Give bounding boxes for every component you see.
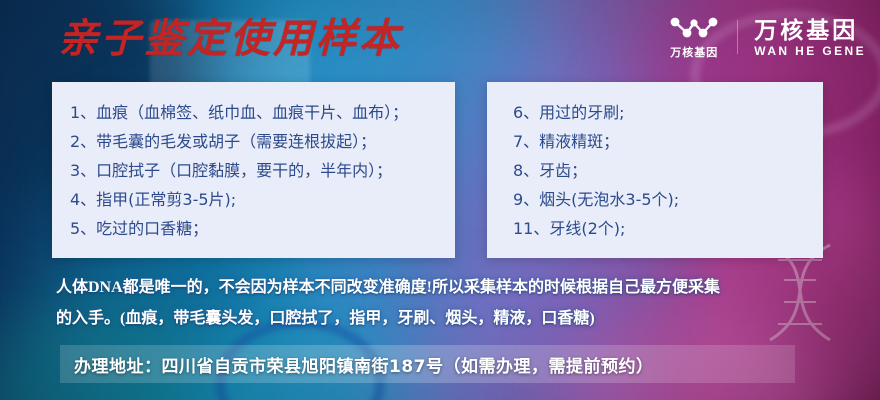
sample-panel-left: 1、血痕（血棉签、纸巾血、血痕干片、血布）； 2、带毛囊的毛发或胡子（需要连根拔… [52, 82, 455, 258]
list-item: 5、吃过的口香糖； [70, 214, 455, 243]
list-item: 1、血痕（血棉签、纸巾血、血痕干片、血布）； [70, 98, 455, 127]
brand-wordmark: 万核基因 WAN HE GENE [754, 17, 866, 58]
list-item: 3、口腔拭子（口腔黏膜，要干的，半年内）； [70, 156, 455, 185]
sample-panel-right: 6、用过的牙刷; 7、精液精斑； 8、牙齿； 9、烟头(无泡水3-5个); 11… [487, 82, 823, 258]
list-item: 11、牙线(2个); [513, 214, 823, 243]
note-line-1: 人体DNA都是唯一的，不会因为样本不同改变准确度!所以采集样本的时候根据自己最方… [56, 272, 836, 303]
address-text: 办理地址：四川省自贡市荣县旭阳镇南街187号（如需办理，需提前预约） [60, 352, 654, 377]
sample-list-right: 6、用过的牙刷; 7、精液精斑； 8、牙齿； 9、烟头(无泡水3-5个); 11… [487, 82, 823, 243]
brand-logo: 万核基因 万核基因 WAN HE GENE [667, 14, 866, 60]
brand-name-cn: 万核基因 [754, 17, 858, 43]
note-paragraph: 人体DNA都是唯一的，不会因为样本不同改变准确度!所以采集样本的时候根据自己最方… [56, 272, 836, 334]
address-bar: 办理地址：四川省自贡市荣县旭阳镇南街187号（如需办理，需提前预约） [60, 345, 795, 383]
note-line-2: 的入手。(血痕，带毛囊头发，口腔拭了，指甲，牙刷、烟头，精液，口香糖) [56, 303, 836, 334]
list-item: 9、烟头(无泡水3-5个); [513, 185, 823, 214]
page-title: 亲子鉴定使用样本 [58, 16, 402, 62]
list-item: 2、带毛囊的毛发或胡子（需要连根拔起）； [70, 127, 455, 156]
list-item: 4、指甲(正常剪3-5片); [70, 185, 455, 214]
brand-name-en: WAN HE GENE [754, 44, 866, 58]
brand-mark: 万核基因 [667, 14, 721, 60]
list-item: 6、用过的牙刷; [513, 98, 823, 127]
list-item: 7、精液精斑； [513, 127, 823, 156]
molecule-icon [667, 14, 721, 42]
brand-divider [737, 20, 738, 54]
sample-list-left: 1、血痕（血棉签、纸巾血、血痕干片、血布）； 2、带毛囊的毛发或胡子（需要连根拔… [52, 82, 455, 243]
poster-canvas: 亲子鉴定使用样本 万核基因 万核基因 WAN H [0, 0, 880, 400]
list-item: 8、牙齿； [513, 156, 823, 185]
brand-mark-label: 万核基因 [670, 44, 718, 60]
